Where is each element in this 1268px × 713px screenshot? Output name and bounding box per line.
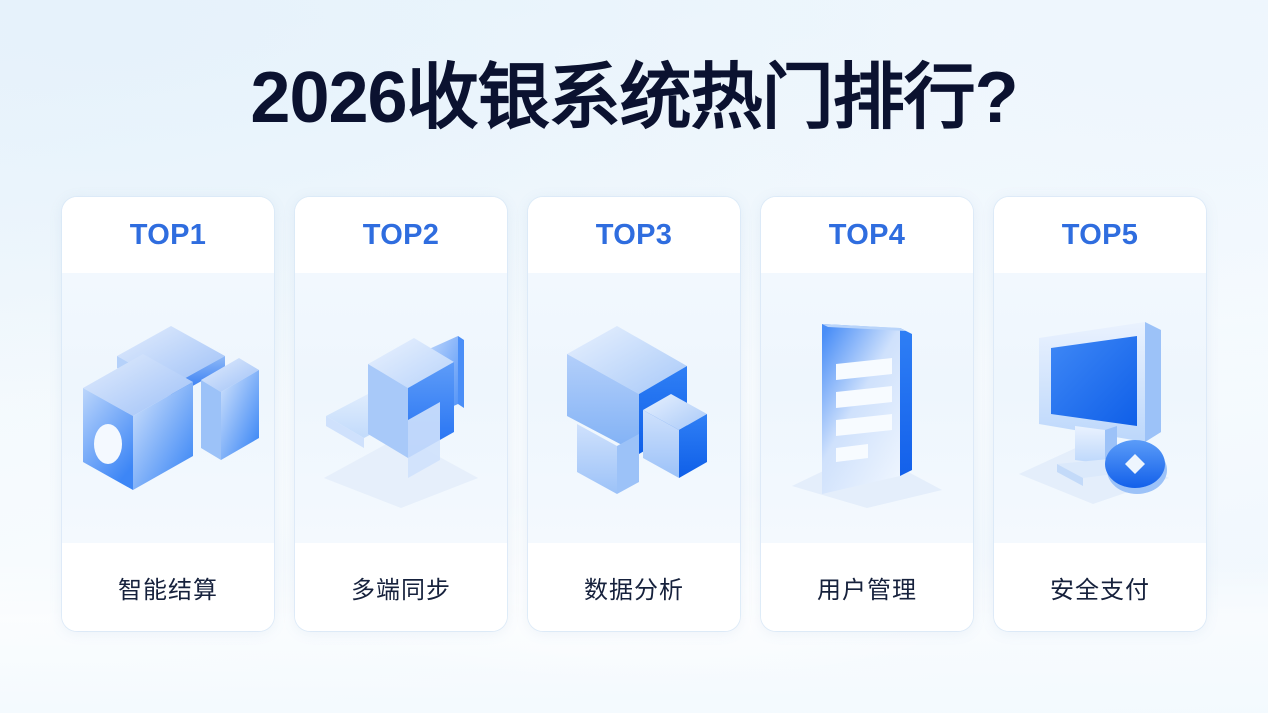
rank-badge: TOP1: [130, 219, 206, 252]
card-header: TOP2: [295, 197, 507, 273]
card-illustration-area: [994, 273, 1206, 543]
rank-badge: TOP3: [596, 219, 672, 252]
ranking-card-top1[interactable]: TOP1: [62, 197, 274, 631]
card-header: TOP1: [62, 197, 274, 273]
card-header: TOP4: [761, 197, 973, 273]
isometric-stacked-cubes-icon: [539, 308, 729, 508]
isometric-monitor-coin-icon: [1005, 308, 1195, 508]
page-title: 2026收银系统热门排行?: [0, 52, 1268, 144]
isometric-cube-sync-panels-icon: [306, 308, 496, 508]
card-label: 安全支付: [1050, 570, 1150, 605]
isometric-document-list-icon: [772, 308, 962, 508]
card-illustration-area: [528, 273, 740, 543]
ranking-card-list: TOP1: [62, 197, 1206, 631]
isometric-open-box-icon: [73, 308, 263, 508]
ranking-card-top2[interactable]: TOP2: [295, 197, 507, 631]
card-header: TOP5: [994, 197, 1206, 273]
card-label: 用户管理: [817, 570, 917, 605]
ranking-card-top5[interactable]: TOP5: [994, 197, 1206, 631]
ranking-card-top3[interactable]: TOP3: [528, 197, 740, 631]
card-illustration-area: [761, 273, 973, 543]
rank-badge: TOP4: [829, 219, 905, 252]
poster-root: 2026收银系统热门排行? TOP1: [0, 0, 1268, 713]
rank-badge: TOP5: [1062, 219, 1138, 252]
card-illustration-area: [62, 273, 274, 543]
ranking-card-top4[interactable]: TOP4: [761, 197, 973, 631]
card-label: 数据分析: [584, 570, 684, 605]
card-footer: 多端同步: [295, 543, 507, 631]
card-header: TOP3: [528, 197, 740, 273]
card-label: 智能结算: [118, 570, 218, 605]
card-label: 多端同步: [351, 570, 451, 605]
card-illustration-area: [295, 273, 507, 543]
card-footer: 用户管理: [761, 543, 973, 631]
card-footer: 安全支付: [994, 543, 1206, 631]
card-footer: 数据分析: [528, 543, 740, 631]
rank-badge: TOP2: [363, 219, 439, 252]
card-footer: 智能结算: [62, 543, 274, 631]
